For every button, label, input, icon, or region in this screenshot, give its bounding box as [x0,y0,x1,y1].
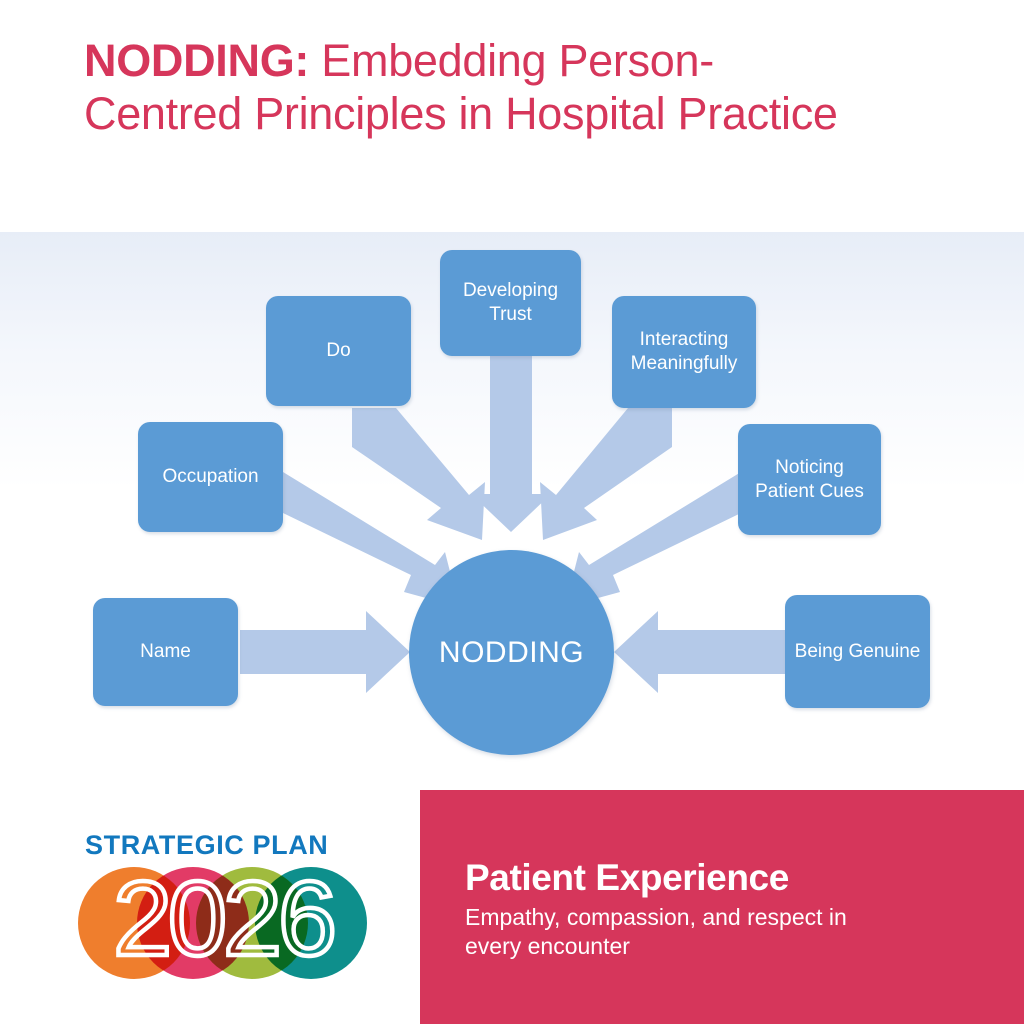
arrow-name-to-center [240,611,410,693]
header-banner: NODDING: Embedding Person-Centred Princi… [0,0,1024,232]
center-hub-label: NODDING [439,636,584,670]
node-interacting-meaningfully[interactable]: Interacting Meaningfully [612,296,756,408]
node-do-label: Do [326,339,350,363]
node-being-genuine[interactable]: Being Genuine [785,595,930,708]
strategic-plan-logo: STRATEGIC PLAN 2026 [78,830,378,980]
logo-circle-teal [255,867,367,979]
panel-subtext: Empathy, compassion, and respect in ever… [465,903,885,961]
center-hub-circle[interactable]: NODDING [409,550,614,755]
node-developing-trust-label: Developing Trust [448,279,573,327]
nodding-diagram: Do Developing Trust Interacting Meaningf… [0,232,1024,790]
arrow-do-to-center [352,408,485,540]
logo-wordmark: STRATEGIC PLAN [85,830,328,861]
node-occupation-label: Occupation [162,465,258,489]
arrow-interacting-to-center [540,408,672,540]
patient-experience-panel: Patient Experience Empathy, compassion, … [420,790,1024,1024]
node-name[interactable]: Name [93,598,238,706]
page-title: NODDING: Embedding Person-Centred Princi… [84,34,844,140]
node-interacting-meaningfully-label: Interacting Meaningfully [620,328,748,376]
node-being-genuine-label: Being Genuine [795,640,921,664]
node-name-label: Name [140,640,191,664]
arrow-being-to-center [614,611,785,693]
logo-circle-group [78,867,368,979]
node-noticing-patient-cues-label: Noticing Patient Cues [746,456,873,504]
node-developing-trust[interactable]: Developing Trust [440,250,581,356]
node-do[interactable]: Do [266,296,411,406]
node-occupation[interactable]: Occupation [138,422,283,532]
page-title-strong: NODDING: [84,35,309,86]
panel-heading: Patient Experience [465,857,789,899]
node-noticing-patient-cues[interactable]: Noticing Patient Cues [738,424,881,535]
footer: STRATEGIC PLAN 2026 Patient Experience E… [0,790,1024,1024]
